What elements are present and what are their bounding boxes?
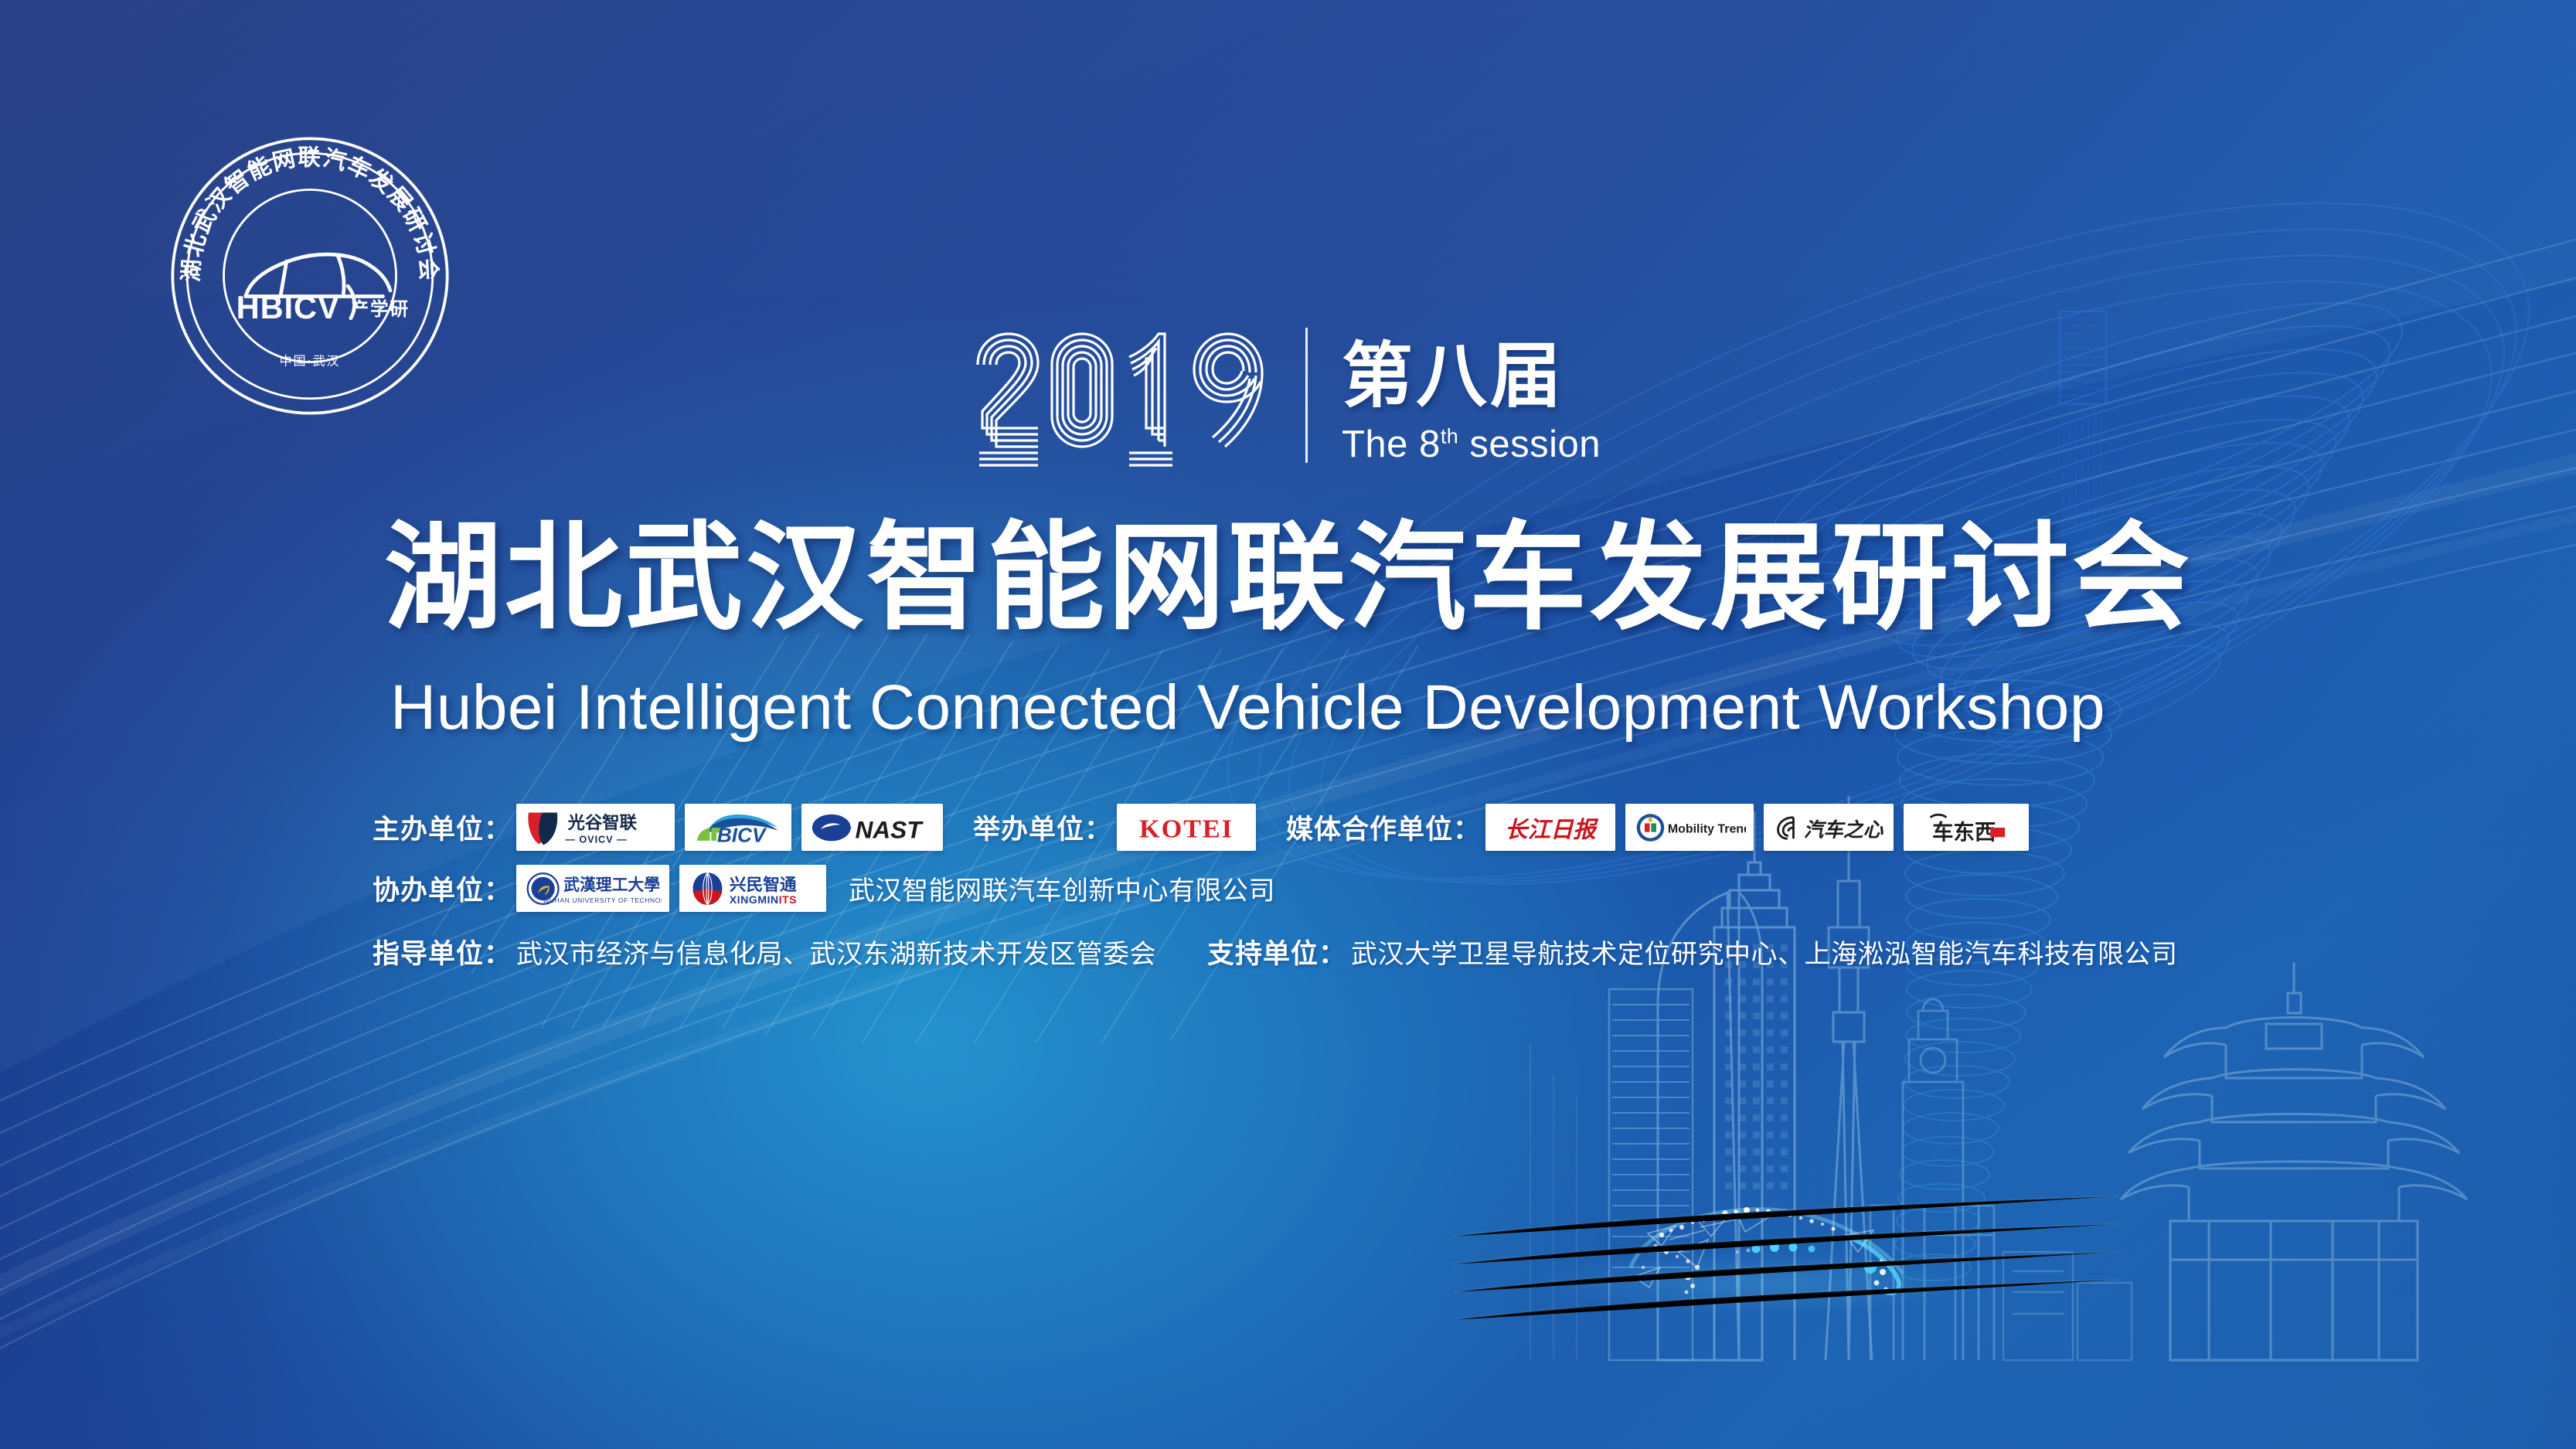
svg-text:Mobility Trend: Mobility Trend xyxy=(1668,822,1746,835)
organizer-label: 主办单位： xyxy=(373,808,512,847)
guidance-label: 指导单位： xyxy=(373,932,512,971)
svg-text:XINGMINITS: XINGMINITS xyxy=(730,893,797,906)
conference-banner: 湖北武汉智能网联汽车发展研讨会 HBICV 产学研 中国·武汉 xyxy=(0,0,2576,1449)
support-text: 武汉大学卫星导航技术定位研究中心、上海淞泓智能汽车科技有限公司 xyxy=(1351,933,2178,971)
guidance-text: 武汉市经济与信息化局、武汉东湖新技术开发区管委会 xyxy=(516,933,1156,971)
hbicv-logo-svg: BICV xyxy=(692,808,784,848)
page-title-english: Hubei Intelligent Connected Vehicle Deve… xyxy=(390,676,2105,740)
session-en-suffix: session xyxy=(1469,423,1601,465)
logo-wuhan-university-of-technology[interactable]: 武漢理工大學 WUHAN UNIVERSITY OF TECHNOLOGY xyxy=(516,865,669,912)
svg-text:XY: XY xyxy=(842,825,852,834)
chedongxi-logo-svg: 车东西 xyxy=(1911,809,2021,846)
sponsor-row-guidance-support: 指导单位： 武汉市经济与信息化局、武汉东湖新技术开发区管委会 支持单位： 武汉大… xyxy=(373,932,2178,971)
headline-divider xyxy=(1305,328,1308,463)
session-en-ordinal: th xyxy=(1441,425,1458,448)
logo-ovicv[interactable]: 光谷智联 — OVICV — xyxy=(516,804,675,851)
conference-seal-logo: 湖北武汉智能网联汽车发展研讨会 HBICV 产学研 中国·武汉 xyxy=(164,130,456,422)
mobility-trend-logo-svg: Mobility Trend xyxy=(1633,810,1746,845)
particle-car-graphic xyxy=(1523,1207,1986,1315)
logo-chedongxi[interactable]: 车东西 xyxy=(1904,804,2029,851)
year-2019 xyxy=(970,325,1271,468)
seal-side-text: 产学研 xyxy=(350,298,409,320)
seal-svg: 湖北武汉智能网联汽车发展研讨会 HBICV 产学研 中国·武汉 xyxy=(164,130,456,422)
session-english: The 8th session xyxy=(1342,423,1601,466)
svg-text:车东西: 车东西 xyxy=(1932,820,1996,845)
sponsor-section: 主办单位： 光谷智联 — OVICV — BICV xyxy=(373,804,2178,971)
qichezhixin-logo-svg: 汽车之心 xyxy=(1771,810,1886,845)
nast-logo-svg: XY NAST xyxy=(809,809,935,846)
svg-text:BICV: BICV xyxy=(717,823,767,846)
guidance-group: 指导单位： 武汉市经济与信息化局、武汉东湖新技术开发区管委会 xyxy=(373,932,1156,971)
host-label: 举办单位： xyxy=(973,808,1112,847)
svg-text:武漢理工大學: 武漢理工大學 xyxy=(563,875,660,893)
sponsor-row-coorganizers: 协办单位： 武漢理工大學 WUHAN UNIVERSITY OF TECHNOL… xyxy=(373,865,2178,912)
svg-text:WUHAN UNIVERSITY OF TECHNOLOGY: WUHAN UNIVERSITY OF TECHNOLOGY xyxy=(543,896,662,903)
svg-text:— OVICV —: — OVICV — xyxy=(565,834,627,845)
seal-acronym: HBICV xyxy=(237,289,340,325)
session-block: 第八届 The 8th session xyxy=(1342,341,1601,468)
svg-text:光谷智联: 光谷智联 xyxy=(567,811,637,832)
coorganizer-label: 协办单位： xyxy=(373,869,512,908)
logo-mobility-trend[interactable]: Mobility Trend xyxy=(1625,804,1754,851)
svg-text:长江日报: 长江日报 xyxy=(1505,816,1598,842)
kotei-logo-svg: KOTEI xyxy=(1125,811,1248,845)
logo-changjiang-daily[interactable]: 长江日报 xyxy=(1485,804,1615,851)
logo-kotei[interactable]: KOTEI xyxy=(1117,804,1256,851)
seal-location: 中国·武汉 xyxy=(280,353,341,368)
logo-xingminits[interactable]: 兴民智通 XINGMINITS xyxy=(679,865,826,912)
changjiang-daily-logo-svg: 长江日报 xyxy=(1493,808,1608,847)
svg-text:NAST: NAST xyxy=(855,815,924,843)
xingminits-logo-svg: 兴民智通 XINGMINITS xyxy=(687,869,818,909)
media-label: 媒体合作单位： xyxy=(1286,808,1481,847)
support-group: 支持单位： 武汉大学卫星导航技术定位研究中心、上海淞泓智能汽车科技有限公司 xyxy=(1207,932,2178,971)
headline-block: 第八届 The 8th session xyxy=(970,325,1601,468)
sponsor-row-organizers: 主办单位： 光谷智联 — OVICV — BICV xyxy=(373,804,2178,851)
page-title-chinese: 湖北武汉智能网联汽车发展研讨会 xyxy=(384,519,2193,637)
yellow-crane-tower-icon xyxy=(2121,962,2467,1360)
wut-logo-svg: 武漢理工大學 WUHAN UNIVERSITY OF TECHNOLOGY xyxy=(524,869,662,909)
svg-text:汽车之心: 汽车之心 xyxy=(1804,818,1884,842)
year-svg xyxy=(970,325,1271,468)
ovicv-logo-svg: 光谷智联 — OVICV — xyxy=(524,808,667,848)
logo-hbicv[interactable]: BICV xyxy=(685,804,791,851)
support-label: 支持单位： xyxy=(1207,932,1346,971)
logo-nast[interactable]: XY NAST xyxy=(801,804,943,851)
seal-ring-text: 湖北武汉智能网联汽车发展研讨会 xyxy=(178,144,442,282)
session-en-prefix: The 8 xyxy=(1342,423,1441,465)
session-chinese: 第八届 xyxy=(1342,341,1601,413)
coorganizer-extra-text: 武汉智能网联汽车创新中心有限公司 xyxy=(849,869,1275,907)
svg-text:KOTEI: KOTEI xyxy=(1139,814,1234,843)
logo-qichezhixin[interactable]: 汽车之心 xyxy=(1764,804,1894,851)
svg-text:兴民智通: 兴民智通 xyxy=(730,874,797,894)
